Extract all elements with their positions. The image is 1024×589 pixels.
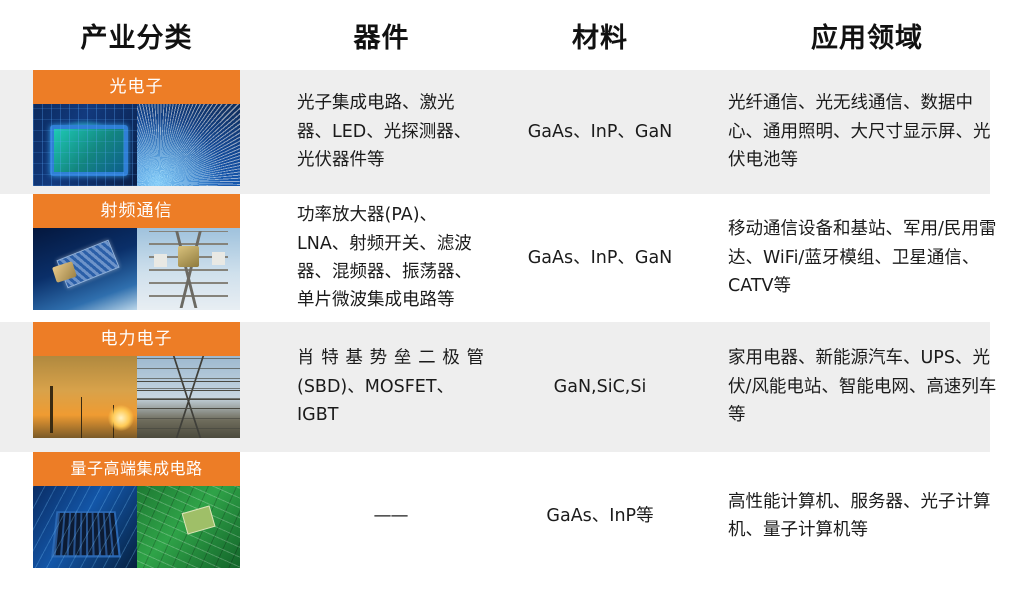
material-text: GaAs、InP等 — [546, 502, 653, 530]
cell-tower-photo — [137, 228, 241, 310]
material-cell: GaAs、InP、GaN — [490, 194, 710, 322]
blue-circuit-chip-photo — [33, 104, 137, 186]
category-banner-label: 射频通信 — [33, 194, 240, 228]
application-text: 移动通信设备和基站、军用/民用雷达、WiFi/蓝牙模组、卫星通信、CATV等 — [728, 215, 998, 300]
column-header-application: 应用领域 — [710, 16, 1024, 55]
application-cell: 光纤通信、光无线通信、数据中心、通用照明、大尺寸显示屏、光伏电池等 — [710, 70, 1024, 194]
power-transmission-lines-photo — [137, 356, 241, 438]
category-cell: 量子高端集成电路 — [0, 452, 273, 580]
table-row: 量子高端集成电路 —— GaAs、InP等 高性能计算机、服务器、光子计算机、量… — [0, 452, 1024, 580]
wind-turbines-sunset-photo — [33, 356, 137, 438]
application-cell: 高性能计算机、服务器、光子计算机、量子计算机等 — [710, 452, 1024, 580]
application-text: 光纤通信、光无线通信、数据中心、通用照明、大尺寸显示屏、光伏电池等 — [728, 89, 998, 174]
material-text: GaAs、InP、GaN — [528, 244, 673, 272]
device-text-dash: —— — [297, 501, 484, 530]
device-cell: 肖特基势垒二极管 (SBD)、MOSFET、IGBT — [273, 322, 490, 452]
device-cell: 光子集成电路、激光器、LED、光探测器、光伏器件等 — [273, 70, 490, 194]
device-text-line1: 肖特基势垒二极管 — [297, 344, 484, 372]
column-header-category: 产业分类 — [0, 16, 273, 55]
material-cell: GaAs、InP等 — [490, 452, 710, 580]
column-header-material: 材料 — [490, 16, 710, 55]
application-cell: 移动通信设备和基站、军用/民用雷达、WiFi/蓝牙模组、卫星通信、CATV等 — [710, 194, 1024, 322]
green-pcb-boards-photo — [137, 486, 241, 568]
material-text: GaN,SiC,Si — [554, 373, 647, 401]
blue-bga-processor-photo — [33, 486, 137, 568]
category-photo-group — [33, 228, 240, 310]
device-cell: —— — [273, 452, 490, 580]
table-row: 光电子 光子集成电路、激光器、LED、光探测器、光伏器件等 GaAs、InP、G… — [0, 70, 1024, 194]
material-cell: GaAs、InP、GaN — [490, 70, 710, 194]
application-text: 家用电器、新能源汽车、UPS、光伏/风能电站、智能电网、高速列车等 — [728, 344, 998, 429]
category-photo-group — [33, 486, 240, 568]
industry-classification-table: 产业分类 器件 材料 应用领域 光电子 光子集成电路、激光器、LED、光探测器、… — [0, 0, 1024, 589]
material-text: GaAs、InP、GaN — [528, 118, 673, 146]
category-cell: 光电子 — [0, 70, 273, 194]
blue-light-rays-photo — [137, 104, 241, 186]
category-banner-label: 电力电子 — [33, 322, 240, 356]
category-photo-group — [33, 104, 240, 186]
table-header-row: 产业分类 器件 材料 应用领域 — [0, 0, 1024, 70]
device-text: 光子集成电路、激光器、LED、光探测器、光伏器件等 — [297, 89, 484, 174]
category-cell: 射频通信 — [0, 194, 273, 322]
application-text: 高性能计算机、服务器、光子计算机、量子计算机等 — [728, 488, 998, 545]
application-cell: 家用电器、新能源汽车、UPS、光伏/风能电站、智能电网、高速列车等 — [710, 322, 1024, 452]
table-row: 射频通信 功率放大器(PA)、LNA、射频开关、滤波器、混频器、振荡器、单片微波… — [0, 194, 1024, 322]
material-cell: GaN,SiC,Si — [490, 322, 710, 452]
satellite-over-earth-photo — [33, 228, 137, 310]
column-header-device: 器件 — [273, 16, 490, 55]
table-row: 电力电子 肖特基势垒二极管 (SBD)、MOSFET、IGBT GaN,SiC,… — [0, 322, 1024, 452]
device-cell: 功率放大器(PA)、LNA、射频开关、滤波器、混频器、振荡器、单片微波集成电路等 — [273, 194, 490, 322]
category-banner-label: 量子高端集成电路 — [33, 452, 240, 486]
category-banner-label: 光电子 — [33, 70, 240, 104]
device-text: 功率放大器(PA)、LNA、射频开关、滤波器、混频器、振荡器、单片微波集成电路等 — [297, 201, 484, 314]
category-photo-group — [33, 356, 240, 438]
device-text-line2: (SBD)、MOSFET、IGBT — [297, 373, 484, 430]
category-cell: 电力电子 — [0, 322, 273, 452]
